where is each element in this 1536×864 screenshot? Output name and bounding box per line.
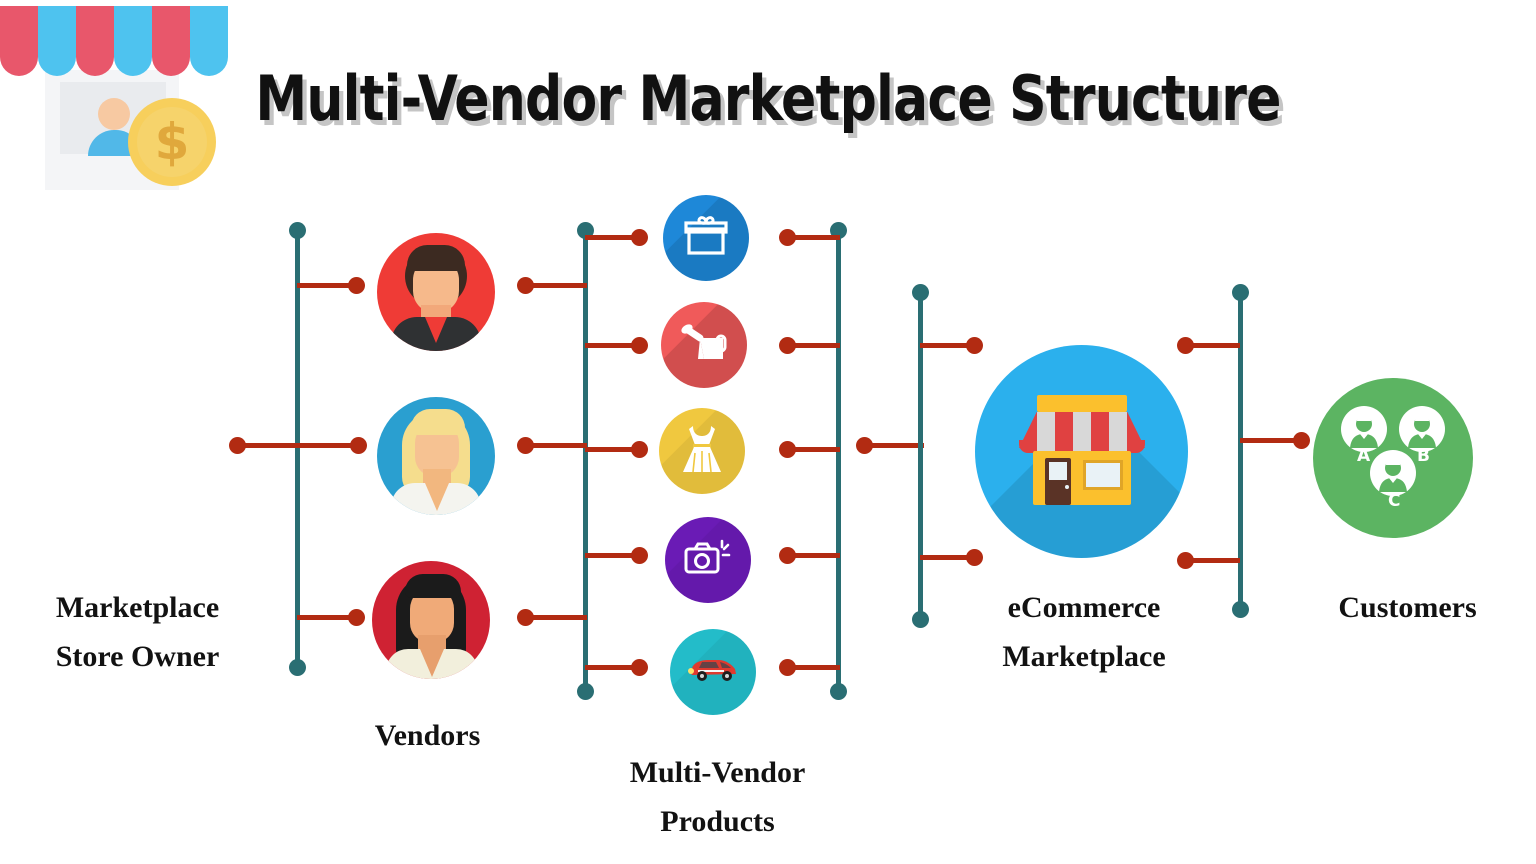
- connector-dot: [631, 547, 648, 564]
- connector-product-2-out: [787, 343, 840, 348]
- label-customers: Customers: [1300, 584, 1515, 633]
- dollar-coin-icon: $: [128, 98, 216, 186]
- connector-dot: [517, 609, 534, 626]
- label-multi-vendor-products: Multi-Vendor Products: [600, 749, 835, 846]
- car-icon: [686, 656, 740, 689]
- connector-dot: [229, 437, 246, 454]
- connector-dot: [631, 441, 648, 458]
- connector-vendor-2-in: [525, 443, 587, 448]
- rail-owner-to-vendors: [295, 230, 300, 668]
- connector-vendor-1-in: [525, 283, 587, 288]
- camera-icon: [682, 537, 734, 584]
- product-garden: [661, 302, 747, 388]
- ecommerce-marketplace-icon: [975, 345, 1188, 558]
- connector-dot: [348, 277, 365, 294]
- rail-cap-top: [1232, 284, 1249, 301]
- vendor-3-avatar: [372, 561, 490, 679]
- label-vendors: Vendors: [325, 712, 530, 761]
- rail-vendors-to-products: [583, 230, 588, 692]
- connector-rail2-product-4: [585, 553, 640, 558]
- page-title: Multi-Vendor Marketplace Structure: [123, 62, 1413, 135]
- connector-rail2-product-2: [585, 343, 640, 348]
- watering-can-icon: [678, 321, 730, 370]
- connector-rail2-product-3: [585, 447, 640, 452]
- customer-label-a: A: [1357, 446, 1370, 466]
- connector-dot: [1177, 552, 1194, 569]
- connector-dot: [779, 337, 796, 354]
- connector-dot: [631, 659, 648, 676]
- rail-cap-top: [289, 222, 306, 239]
- label-ecommerce-marketplace: eCommerce Marketplace: [960, 584, 1208, 681]
- customers-icon: A B C: [1313, 378, 1473, 538]
- connector-dot: [779, 659, 796, 676]
- connector-dot: [966, 337, 983, 354]
- rail-cap-bottom: [577, 683, 594, 700]
- product-camera: [665, 517, 751, 603]
- connector-dot: [631, 337, 648, 354]
- rail-cap-bottom: [289, 659, 306, 676]
- connector-rail2-product-5: [585, 665, 640, 670]
- label-marketplace-store-owner: Marketplace Store Owner: [10, 584, 265, 681]
- vendor-2-avatar: [377, 397, 495, 515]
- product-gift: [663, 195, 749, 281]
- connector-rail5-bottom: [1185, 558, 1240, 563]
- rail-ecom-in: [918, 292, 923, 620]
- rail-cap-bottom: [1232, 601, 1249, 618]
- rail-products-to-ecom: [836, 230, 841, 692]
- connector-owner-vendor-1: [297, 283, 357, 288]
- store-awning: [0, 6, 226, 76]
- rail-cap-bottom: [830, 683, 847, 700]
- dress-icon: [679, 423, 725, 480]
- connector-owner-vendor-3: [297, 615, 357, 620]
- connector-dot: [779, 229, 796, 246]
- connector-vendor-3-in: [525, 615, 587, 620]
- connector-dot: [350, 437, 367, 454]
- connector-dot: [517, 437, 534, 454]
- connector-dot: [779, 441, 796, 458]
- store-owner-head-icon: [98, 98, 130, 130]
- product-fashion: [659, 408, 745, 494]
- connector-dot: [1293, 432, 1310, 449]
- connector-product-1-out: [787, 235, 840, 240]
- connector-rail2-product-1: [585, 235, 640, 240]
- customer-label-b: B: [1417, 446, 1430, 466]
- customer-label-c: C: [1388, 491, 1400, 511]
- connector-dot: [348, 609, 365, 626]
- vendor-1-avatar: [377, 233, 495, 351]
- product-auto: [670, 629, 756, 715]
- rail-cap-bottom: [912, 611, 929, 628]
- connector-products-to-ecom-bridge: [864, 443, 924, 448]
- connector-ecom-to-customers: [1240, 438, 1302, 443]
- connector-product-5-out: [787, 665, 840, 670]
- connector-product-3-out: [787, 447, 840, 452]
- connector-dot: [1177, 337, 1194, 354]
- rail-cap-top: [912, 284, 929, 301]
- diagram-canvas: Multi-Vendor Marketplace Structure $ Mar…: [0, 0, 1536, 864]
- connector-dot: [779, 547, 796, 564]
- connector-dot: [856, 437, 873, 454]
- connector-product-4-out: [787, 553, 840, 558]
- connector-rail4-top: [920, 343, 975, 348]
- gift-icon: [682, 214, 730, 263]
- dollar-sign: $: [137, 107, 207, 177]
- connector-rail5-top: [1185, 343, 1240, 348]
- connector-rail4-bottom: [920, 555, 975, 560]
- connector-owner-store: [237, 443, 359, 448]
- connector-dot: [631, 229, 648, 246]
- connector-dot: [517, 277, 534, 294]
